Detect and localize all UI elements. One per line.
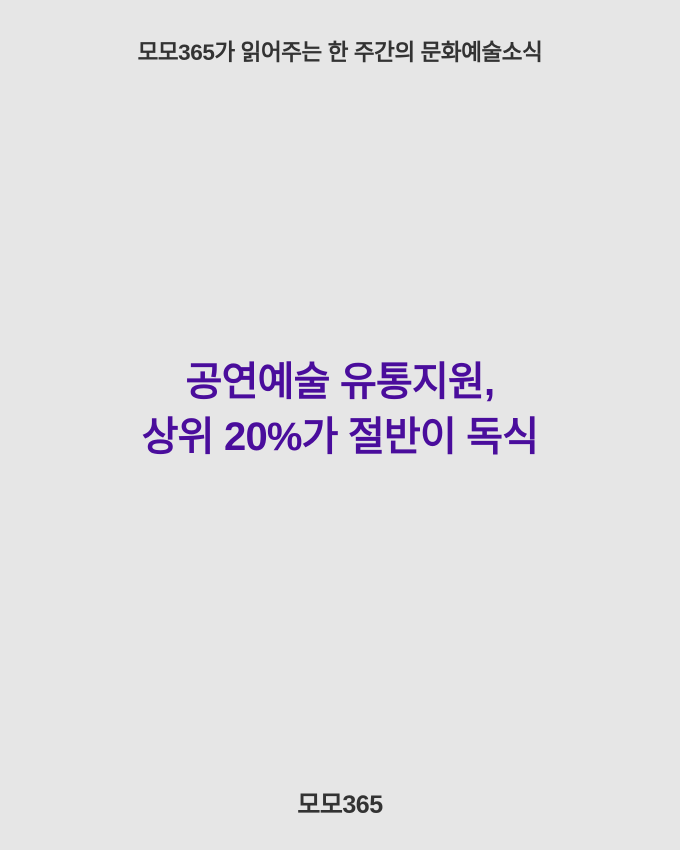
- brand-logo: 모모365: [297, 792, 382, 820]
- headline-line-2: 상위 20%가 절반이 독식: [142, 410, 539, 465]
- lower-spacer: [0, 490, 680, 780]
- footer-band: 모모365: [0, 792, 680, 820]
- upper-spacer: [0, 105, 680, 355]
- headline-line-1: 공연예술 유통지원,: [186, 355, 495, 410]
- card-news-slide: 모모365가 읽어주는 한 주간의 문화예술소식 공연예술 유통지원, 상위 2…: [0, 0, 680, 850]
- headline-block: 공연예술 유통지원, 상위 20%가 절반이 독식: [0, 355, 680, 465]
- header-caption: 모모365가 읽어주는 한 주간의 문화예술소식: [138, 39, 543, 66]
- header-band: 모모365가 읽어주는 한 주간의 문화예술소식: [0, 0, 680, 105]
